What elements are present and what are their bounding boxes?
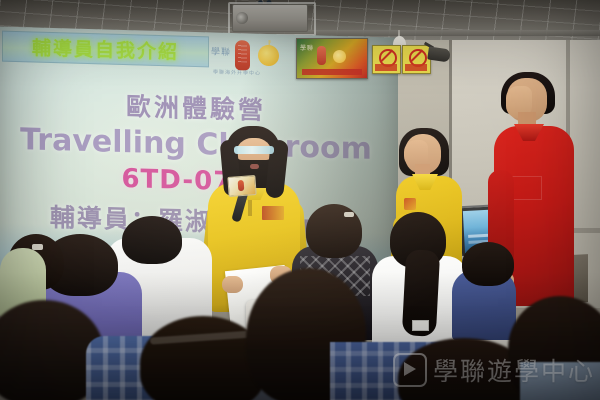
watermark: 學聯遊學中心	[393, 352, 595, 388]
microphone-branding-flag	[227, 175, 256, 197]
wall-poster: 學聯	[296, 38, 368, 79]
play-logo-icon	[393, 353, 427, 387]
wall-poster-footer-bar	[302, 69, 362, 75]
projector-cage	[228, 2, 316, 36]
no-smoking-sign	[372, 45, 401, 74]
audience-white-shirt-head	[122, 216, 182, 264]
wall-poster-sun-icon	[333, 50, 346, 63]
wall-poster-figure-icon	[317, 46, 326, 65]
sign-label-bar	[375, 64, 397, 71]
audience-hair-clip	[344, 212, 354, 217]
speaker-hand-mic	[222, 276, 243, 293]
audience-right-back-head	[462, 242, 514, 286]
audience-blouse-tag	[412, 320, 429, 331]
speaker-mouth	[250, 164, 259, 169]
staff-yellow-shirt-logo	[404, 198, 416, 210]
audience-hair-clip-left	[32, 244, 43, 250]
watermark-text: 學聯遊學中心	[433, 352, 595, 388]
seminar-photo: 輔導員自我介紹 學聯 學聯海外升學中心 歐洲體驗營 Travelling Cla…	[0, 0, 600, 400]
wall-poster-text: 學聯	[300, 43, 314, 52]
microphone-flag-logo-icon	[238, 180, 245, 191]
speaker-shirt-logo	[262, 206, 284, 220]
no-food-sign	[402, 45, 431, 74]
sign-label-bar	[405, 64, 427, 71]
speaker-glasses	[234, 146, 274, 154]
